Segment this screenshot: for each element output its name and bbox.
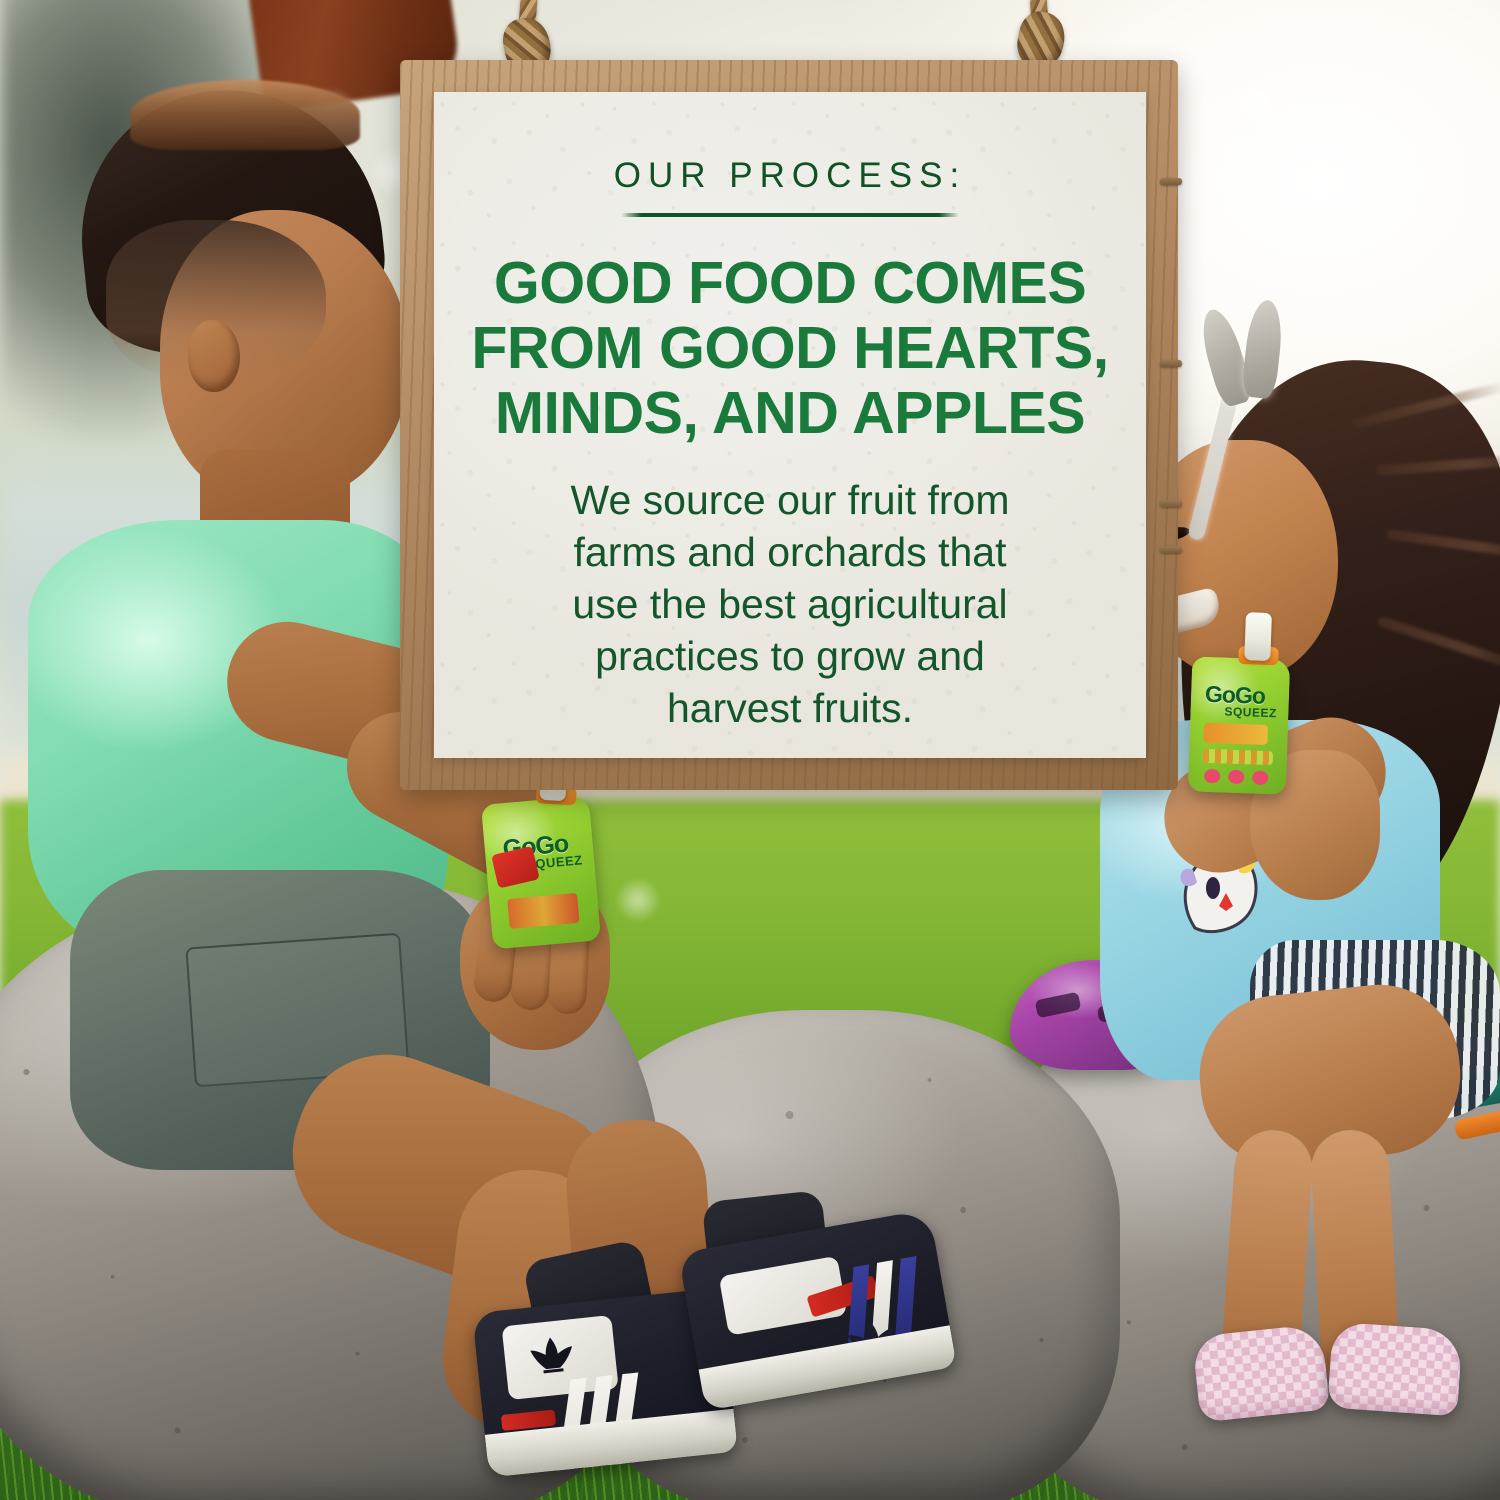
bokeh-light [618,880,658,920]
sign-eyebrow-underline [621,213,959,217]
boy-hair-highlight [130,80,360,150]
pouch-cap [1244,612,1272,661]
adidas-trefoil-icon [527,1333,577,1376]
headline-line-2: FROM GOOD HEARTS, [471,316,1108,381]
body-line-4: practices to grow and [571,630,1010,682]
pouch-brand-secondary: SQUEEZ [1224,704,1277,720]
boy-ear [188,320,240,392]
headline-line-3: MINDS, AND APPLES [471,381,1108,446]
girl-shoe-right [1327,1322,1463,1417]
gogo-squeez-pouch-girl: GoGo SQUEEZ [1188,656,1291,794]
body-line-5: harvest fruits. [571,682,1010,734]
sign-wooden-frame: OUR PROCESS: GOOD FOOD COMES FROM GOOD H… [400,60,1178,790]
headline-line-1: GOOD FOOD COMES [471,251,1108,316]
pouch-fruit-artwork [1203,749,1273,765]
sign-paper-panel: OUR PROCESS: GOOD FOOD COMES FROM GOOD H… [434,92,1146,758]
pouch-badge [491,846,540,889]
girl-shoe-left [1192,1323,1330,1422]
hanging-sign: OUR PROCESS: GOOD FOOD COMES FROM GOOD H… [392,0,1192,805]
frame-plank-joint [1160,360,1182,367]
body-line-2: farms and orchards that [571,526,1010,578]
frame-plank-joint [1160,178,1182,185]
bokeh-light [1220,70,1290,140]
sign-body-copy: We source our fruit from farms and orcha… [571,474,1010,734]
frame-plank-joint [1160,500,1182,507]
pouch-berry-icon [1228,770,1244,785]
body-line-1: We source our fruit from [571,474,1010,526]
pouch-fruit-artwork [507,893,579,929]
pouch-berry-icon [1204,769,1220,784]
body-line-3: use the best agricultural [571,578,1010,630]
frame-plank-joint [1160,546,1182,553]
sign-eyebrow: OUR PROCESS: [614,158,966,193]
helmet-vent [1035,992,1082,1019]
pouch-berry-icon [1252,770,1268,785]
sign-text-block: OUR PROCESS: GOOD FOOD COMES FROM GOOD H… [434,92,1146,758]
gogo-squeez-pouch-boy: GoGo SQUEEZ [481,796,601,950]
sign-headline: GOOD FOOD COMES FROM GOOD HEARTS, MINDS,… [471,251,1108,446]
pouch-fruit-artwork [1203,723,1268,745]
photo-scene: GoGo SQUEEZ [0,0,1500,1500]
